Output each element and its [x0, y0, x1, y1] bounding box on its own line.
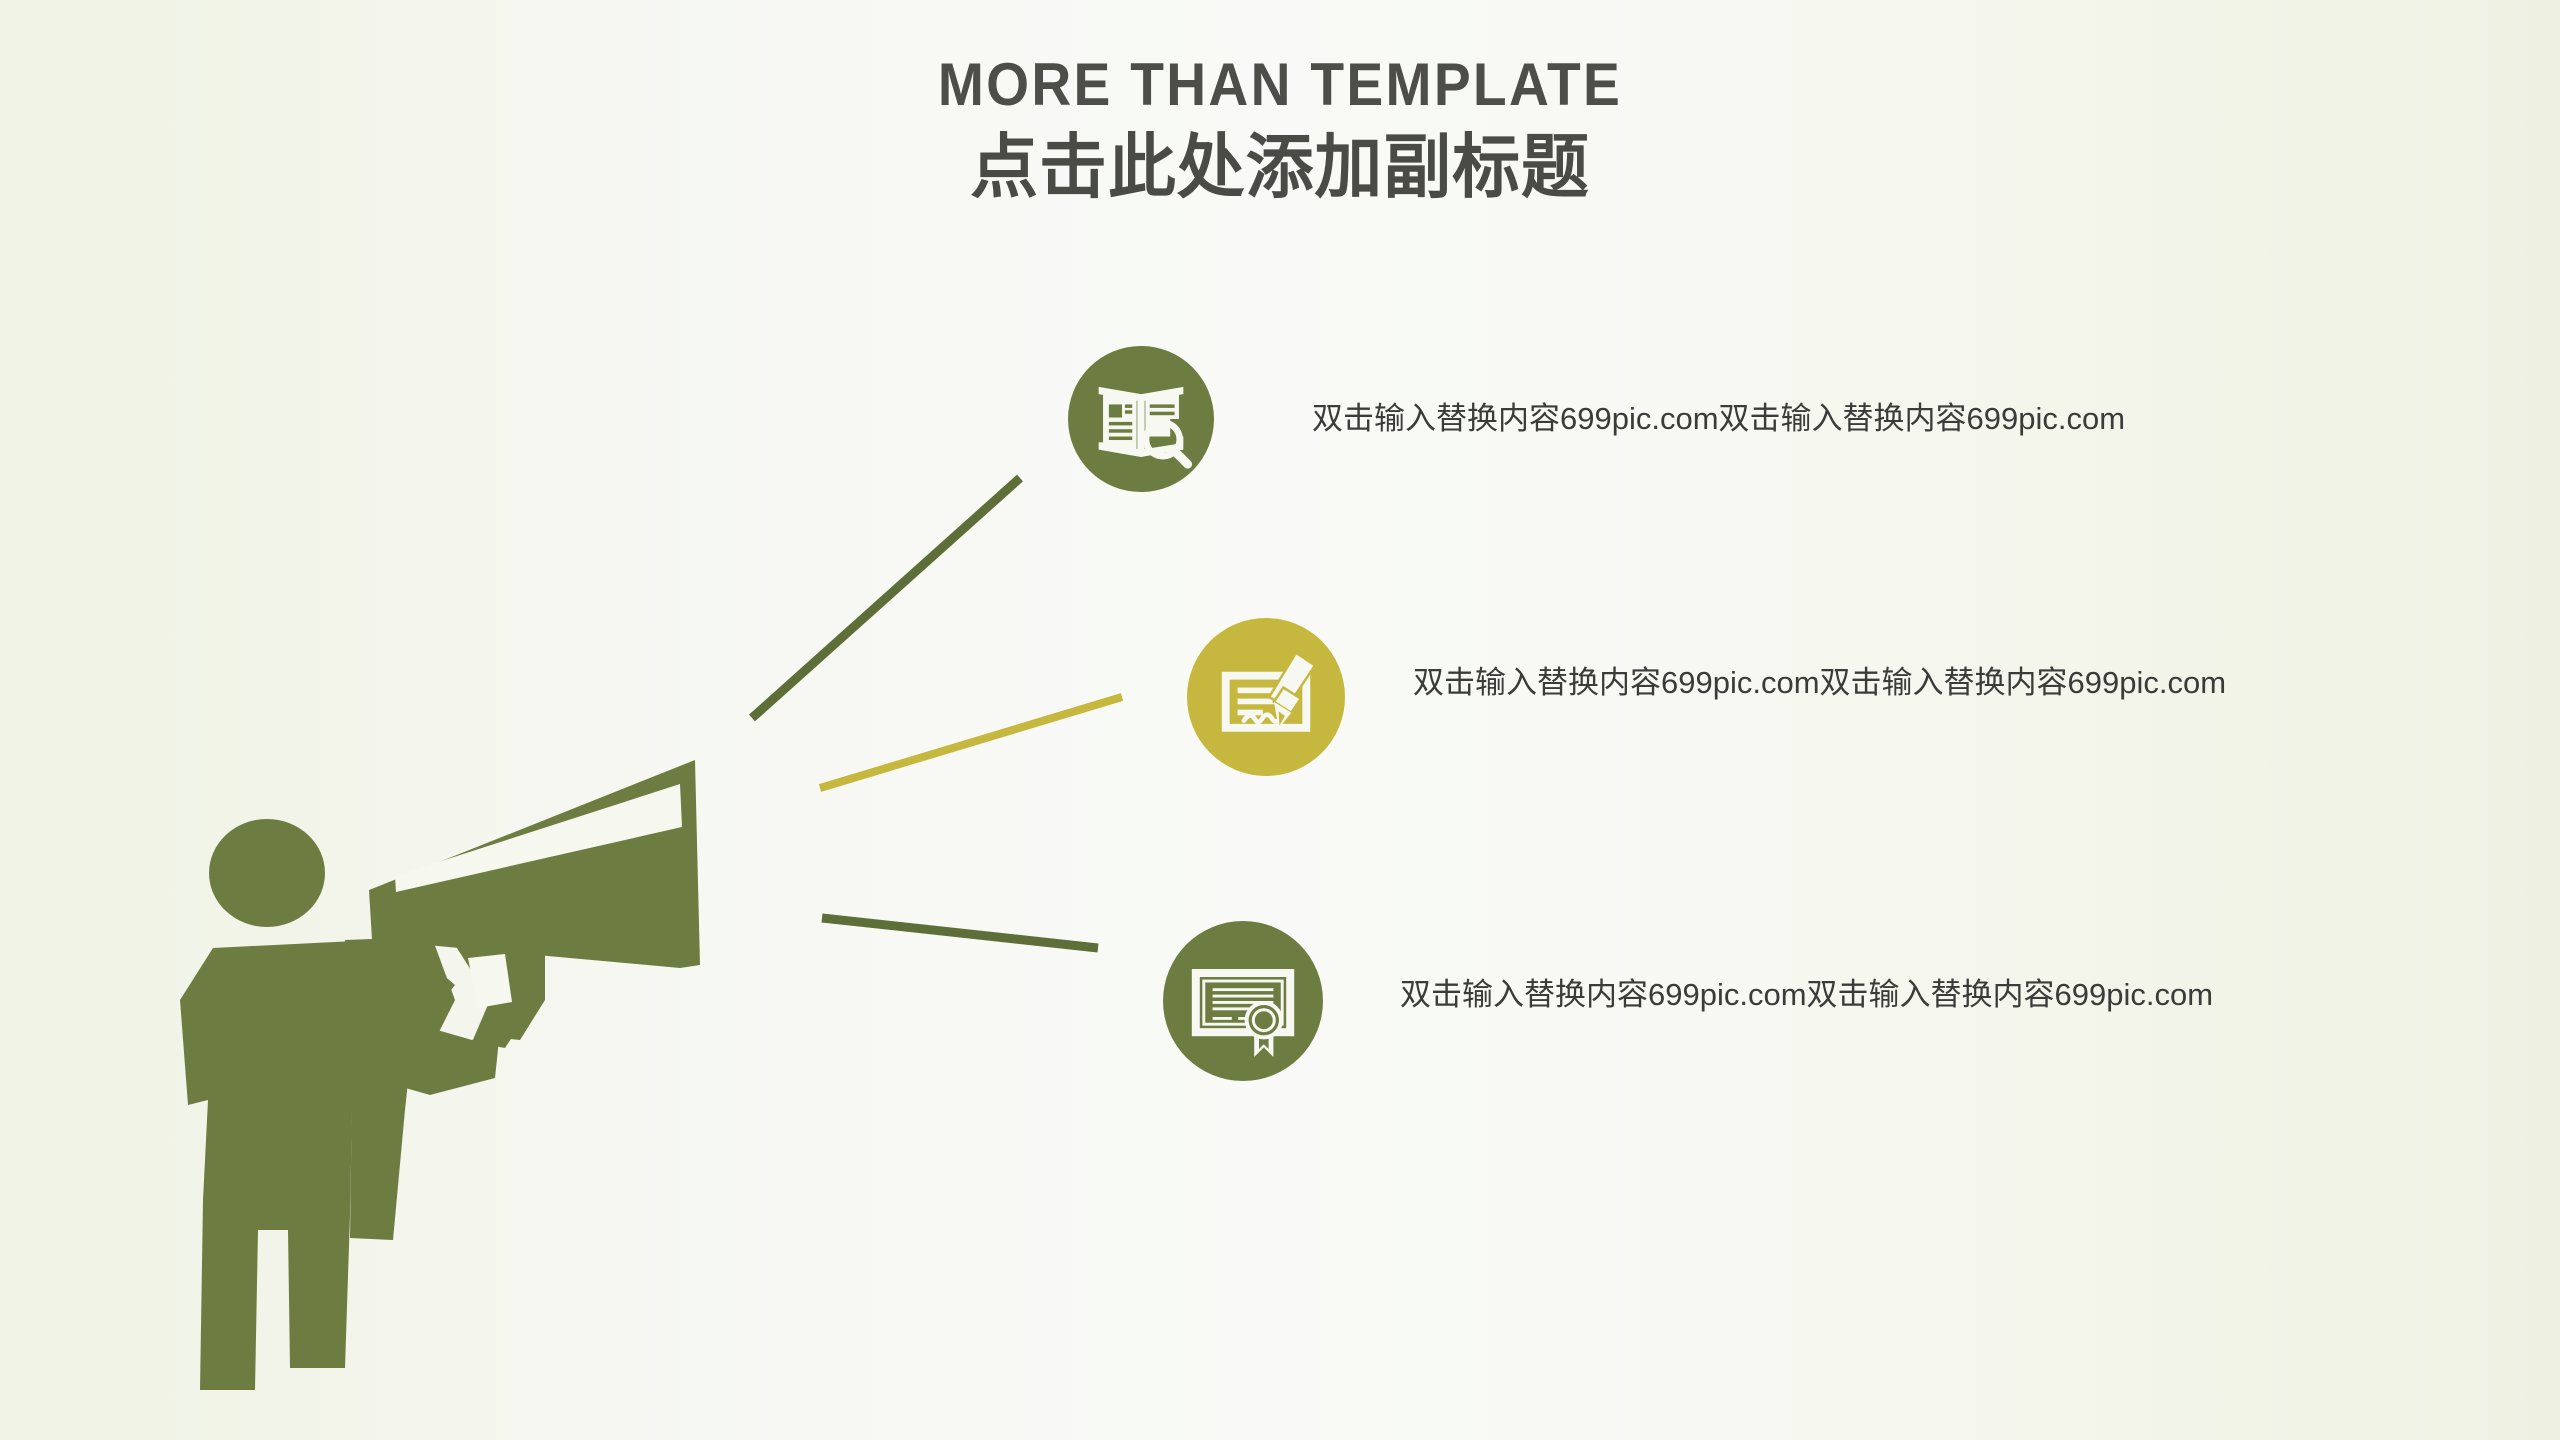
bullet-text-1: 双击输入替换内容699pic.com双击输入替换内容699pic.com — [1312, 403, 2125, 434]
megaphone-person-icon — [180, 760, 700, 1390]
bullet-text-3: 双击输入替换内容699pic.com双击输入替换内容699pic.com — [1400, 979, 2213, 1010]
slide-canvas: MORE THAN TEMPLATE 点击此处添加副标题 — [0, 0, 2560, 1440]
book-search-icon[interactable] — [1068, 346, 1214, 492]
document-signature-pen-icon[interactable] — [1187, 618, 1345, 776]
connector-line-2 — [820, 697, 1122, 788]
certificate-award-icon[interactable] — [1163, 921, 1323, 1081]
connector-line-3 — [822, 918, 1098, 948]
bullet-text-2: 双击输入替换内容699pic.com双击输入替换内容699pic.com — [1413, 667, 2226, 698]
connector-line-1 — [752, 478, 1020, 718]
